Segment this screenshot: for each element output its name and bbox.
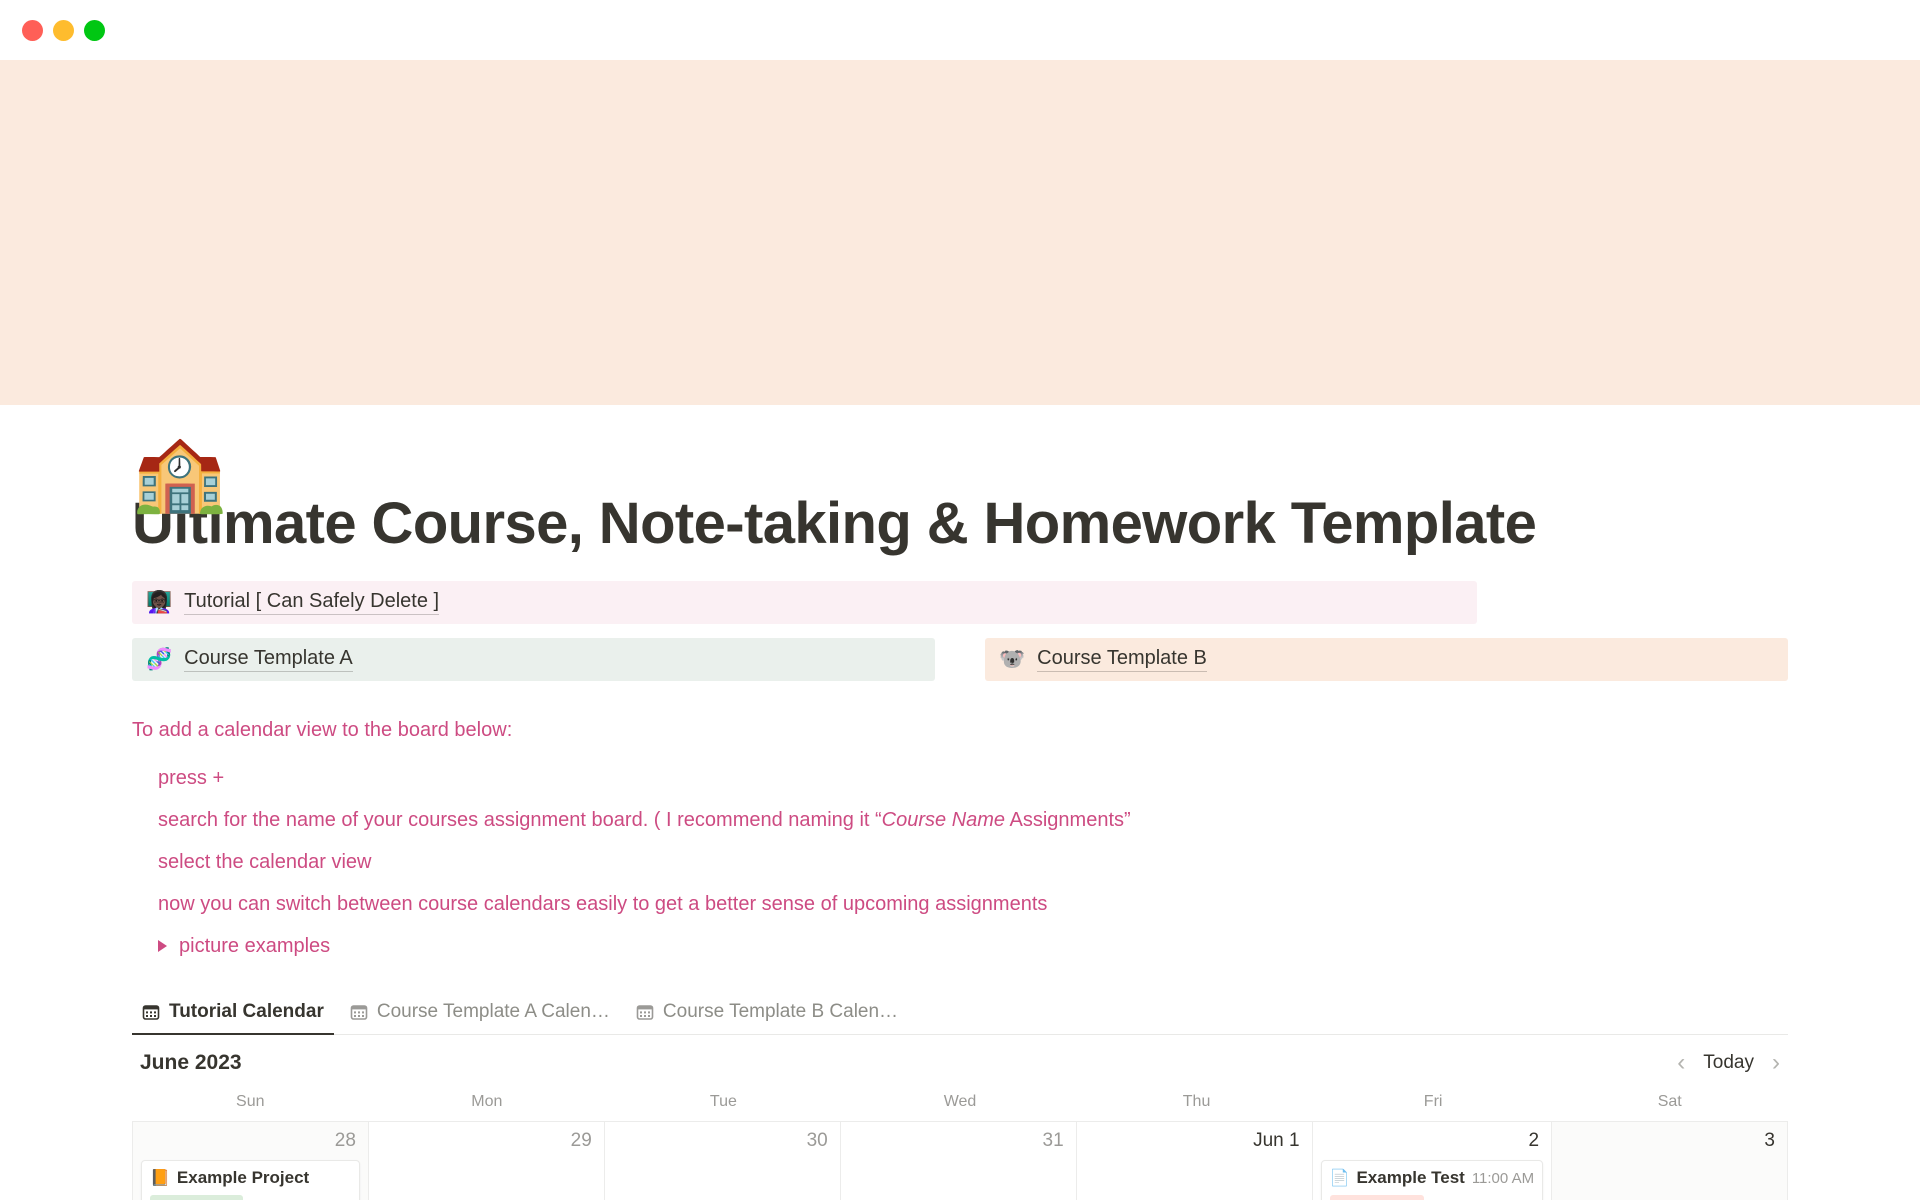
window-minimize-button[interactable] [53,20,74,41]
koala-icon: 🐨 [999,649,1025,670]
tab-tutorial-calendar-label: Tutorial Calendar [169,1001,324,1023]
calendar-event-header: 📄 Example Test 11:00 AM [1330,1168,1535,1188]
weekday-label-tue: Tue [605,1091,842,1121]
status-badge: Not started [1330,1195,1424,1200]
chevron-left-icon[interactable]: ‹ [1677,1051,1685,1075]
instructions-lead: To add a calendar view to the board belo… [132,715,1788,745]
callout-course-template-a[interactable]: 🧬 Course Template A [132,638,935,681]
callout-course-template-b-label[interactable]: Course Template B [1037,647,1207,672]
calendar-icon [350,1003,368,1021]
calendar-icon [142,1003,160,1021]
calendar-day-number: 30 [613,1128,832,1160]
tab-tutorial-calendar[interactable]: Tutorial Calendar [132,1001,334,1034]
orange-book-icon: 📙 [150,1168,170,1188]
window-maximize-button[interactable] [84,20,105,41]
calendar-event-card[interactable]: 📄 Example Test 11:00 AM Not started [1321,1160,1544,1200]
calendar-event-header: 📙 Example Project [150,1168,351,1188]
weekday-label-thu: Thu [1078,1091,1315,1121]
instruction-step-2-pre: search for the name of your courses assi… [158,809,882,831]
calendar-view-tabbar: Tutorial Calendar Course Template A Cale… [132,991,1788,1035]
callout-tutorial[interactable]: 👩🏿‍🏫 Tutorial [ Can Safely Delete ] [132,581,1477,624]
calendar-day-cell[interactable]: 30 [605,1122,841,1200]
calendar-day-number: Jun 1 [1085,1128,1304,1160]
calendar-weekday-header: Sun Mon Tue Wed Thu Fri Sat [132,1091,1788,1121]
window-titlebar [0,0,1920,60]
calendar-navigation: ‹ Today › [1677,1051,1780,1075]
weekday-label-fri: Fri [1315,1091,1552,1121]
tab-course-template-a-calendar[interactable]: Course Template A Calen… [340,1001,620,1034]
calendar-event-title: Example Test [1356,1168,1464,1188]
weekday-label-sun: Sun [132,1091,369,1121]
calendar-day-number: 2 [1321,1128,1544,1160]
instruction-step-1: press + [158,757,1788,799]
page-document-icon: 📄 [1330,1168,1350,1188]
triangle-right-icon[interactable] [158,940,167,952]
calendar-day-cell[interactable]: 3 [1552,1122,1788,1200]
calendar-day-number: 28 [141,1128,360,1160]
calendar-month-label: June 2023 [140,1051,242,1075]
weekday-label-wed: Wed [842,1091,1079,1121]
template-callout-row: 🧬 Course Template A 🐨 Course Template B [132,638,1788,681]
teacher-icon: 👩🏿‍🏫 [146,592,172,613]
calendar-event-card[interactable]: 📙 Example Project Completed [141,1160,360,1200]
calendar-day-cell[interactable]: Jun 1 [1077,1122,1313,1200]
calendar-header: June 2023 ‹ Today › [132,1035,1788,1091]
instruction-step-2: search for the name of your courses assi… [158,799,1788,841]
calendar-icon [636,1003,654,1021]
calendar-day-cell[interactable]: 29 [369,1122,605,1200]
callout-course-template-b[interactable]: 🐨 Course Template B [985,638,1788,681]
calendar-day-number: 31 [849,1128,1068,1160]
calendar-day-number: 3 [1560,1128,1779,1160]
weekday-label-sat: Sat [1551,1091,1788,1121]
tab-course-template-a-calendar-label: Course Template A Calen… [377,1001,610,1023]
window-close-button[interactable] [22,20,43,41]
instruction-step-3: select the calendar view [158,841,1788,883]
calendar-day-cell[interactable]: 2 📄 Example Test 11:00 AM Not started [1313,1122,1553,1200]
calendar-day-cell[interactable]: 31 [841,1122,1077,1200]
instruction-step-2-post: Assignments” [1005,809,1131,831]
calendar-event-time: 11:00 AM [1472,1170,1534,1187]
page-title: Ultimate Course, Note-taking & Homework … [132,490,1788,557]
toggle-picture-examples-label[interactable]: picture examples [179,931,330,961]
dna-icon: 🧬 [146,649,172,670]
today-button[interactable]: Today [1703,1052,1754,1074]
tab-course-template-b-calendar[interactable]: Course Template B Calen… [626,1001,908,1034]
calendar-day-cell[interactable]: 28 📙 Example Project Completed [133,1122,369,1200]
page-icon[interactable]: 🏫 [132,435,227,511]
status-badge: Completed [150,1195,243,1200]
chevron-right-icon[interactable]: › [1772,1051,1780,1075]
instructions-list: press + search for the name of your cour… [132,757,1788,967]
calendar-event-title: Example Project [177,1168,309,1188]
tab-course-template-b-calendar-label: Course Template B Calen… [663,1001,898,1023]
toggle-picture-examples[interactable]: picture examples [158,925,1788,967]
page-cover-image[interactable] [0,60,1920,405]
callout-tutorial-label[interactable]: Tutorial [ Can Safely Delete ] [184,590,439,615]
callout-course-template-a-label[interactable]: Course Template A [184,647,353,672]
calendar-day-number: 29 [377,1128,596,1160]
page-body: 🏫 Ultimate Course, Note-taking & Homewor… [0,490,1920,1200]
instruction-step-2-emphasis: Course Name [882,809,1005,831]
calendar-day-grid: 28 📙 Example Project Completed 29 30 31 [132,1121,1788,1200]
instruction-step-4: now you can switch between course calend… [158,883,1788,925]
weekday-label-mon: Mon [369,1091,606,1121]
